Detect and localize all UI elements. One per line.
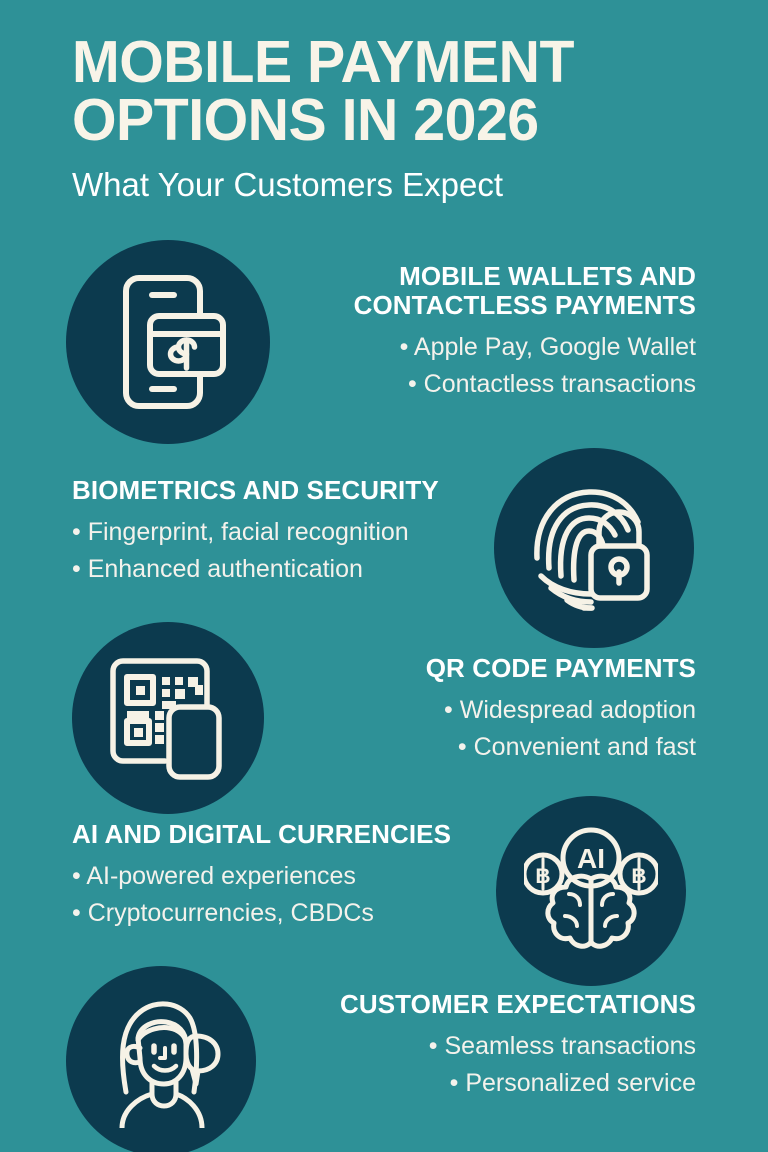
page-title: MOBILE PAYMENT OPTIONS IN 2026 bbox=[72, 34, 693, 150]
list-item: • Fingerprint, facial recognition bbox=[72, 514, 439, 551]
section-3-heading-line-1: QR CODE PAYMENTS bbox=[426, 654, 696, 683]
section-4-heading-line-1: AI AND DIGITAL CURRENCIES bbox=[72, 820, 451, 849]
section-qr-code: QR CODE PAYMENTS • Widespread adoption •… bbox=[0, 622, 768, 822]
page-subtitle: What Your Customers Expect bbox=[72, 166, 712, 204]
section-5-heading-line-1: CUSTOMER EXPECTATIONS bbox=[340, 990, 696, 1019]
section-3-text: QR CODE PAYMENTS • Widespread adoption •… bbox=[426, 654, 696, 766]
section-ai-digital-currencies: AI B B bbox=[0, 796, 768, 986]
list-item: • Cryptocurrencies, CBDCs bbox=[72, 895, 451, 932]
list-item: • Widespread adoption bbox=[426, 692, 696, 729]
header: MOBILE PAYMENT OPTIONS IN 2026 What Your… bbox=[72, 34, 712, 204]
section-4-heading: AI AND DIGITAL CURRENCIES bbox=[72, 820, 451, 849]
section-mobile-wallets: MOBILE WALLETS AND CONTACTLESS PAYMENTS … bbox=[0, 240, 768, 450]
section-2-text: BIOMETRICS AND SECURITY • Fingerprint, f… bbox=[72, 476, 439, 588]
section-1-heading-line-2: CONTACTLESS PAYMENTS bbox=[354, 291, 696, 320]
section-5-bullets: • Seamless transactions • Personalized s… bbox=[340, 1028, 696, 1102]
section-2-heading: BIOMETRICS AND SECURITY bbox=[72, 476, 439, 505]
section-4-bullets: • AI-powered experiences • Cryptocurrenc… bbox=[72, 858, 451, 932]
section-2-heading-line-1: BIOMETRICS AND SECURITY bbox=[72, 476, 439, 505]
list-item: • Seamless transactions bbox=[340, 1028, 696, 1065]
section-biometrics: BIOMETRICS AND SECURITY • Fingerprint, f… bbox=[0, 448, 768, 644]
section-1-bullets: • Apple Pay, Google Wallet • Contactless… bbox=[354, 329, 696, 403]
section-1-heading-line-1: MOBILE WALLETS AND bbox=[354, 262, 696, 291]
list-item: • Apple Pay, Google Wallet bbox=[354, 329, 696, 366]
section-5-heading: CUSTOMER EXPECTATIONS bbox=[340, 990, 696, 1019]
list-item: • Personalized service bbox=[340, 1065, 696, 1102]
section-1-text: MOBILE WALLETS AND CONTACTLESS PAYMENTS … bbox=[354, 262, 696, 403]
list-item: • Contactless transactions bbox=[354, 366, 696, 403]
ai-brain-bitcoin-icon: AI B B bbox=[496, 796, 686, 986]
section-3-heading: QR CODE PAYMENTS bbox=[426, 654, 696, 683]
qr-code-phone-icon bbox=[72, 622, 264, 814]
ai-badge-label: AI bbox=[577, 843, 605, 874]
infographic-canvas: MOBILE PAYMENT OPTIONS IN 2026 What Your… bbox=[0, 0, 768, 1152]
section-2-bullets: • Fingerprint, facial recognition • Enha… bbox=[72, 514, 439, 588]
section-1-heading: MOBILE WALLETS AND CONTACTLESS PAYMENTS bbox=[354, 262, 696, 320]
list-item: • Convenient and fast bbox=[426, 729, 696, 766]
section-3-bullets: • Widespread adoption • Convenient and f… bbox=[426, 692, 696, 766]
list-item: • Enhanced authentication bbox=[72, 551, 439, 588]
section-customer-expectations: CUSTOMER EXPECTATIONS • Seamless transac… bbox=[0, 966, 768, 1152]
mobile-wallet-icon bbox=[66, 240, 270, 444]
list-item: • AI-powered experiences bbox=[72, 858, 451, 895]
customer-person-icon bbox=[66, 966, 256, 1152]
section-5-text: CUSTOMER EXPECTATIONS • Seamless transac… bbox=[340, 990, 696, 1102]
title-line-1: MOBILE PAYMENT bbox=[72, 34, 693, 92]
section-4-text: AI AND DIGITAL CURRENCIES • AI-powered e… bbox=[72, 820, 451, 932]
title-line-2: OPTIONS IN 2026 bbox=[72, 92, 693, 150]
fingerprint-lock-icon bbox=[494, 448, 694, 648]
